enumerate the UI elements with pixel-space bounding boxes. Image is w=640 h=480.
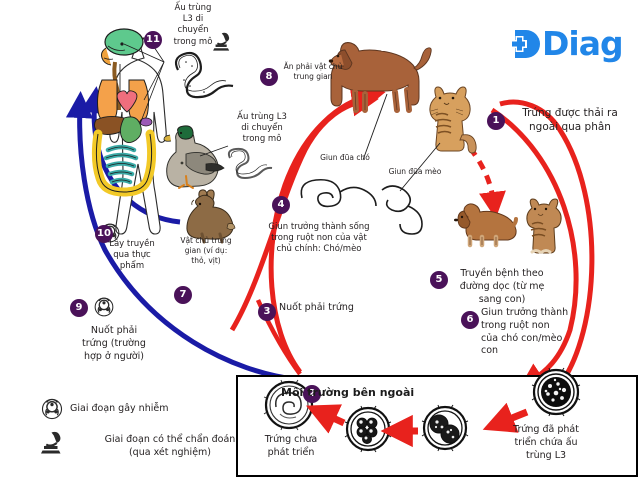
- step-label-5: Truyền bệnh theo đường dọc (từ mẹ sang c…: [452, 268, 552, 306]
- lifecycle-diagram: 2 Môi trường bên ngoài: [0, 0, 640, 480]
- step-label-4: Giun trưởng thành sống trong ruột non củ…: [258, 222, 380, 256]
- microscope-icon: [41, 432, 61, 454]
- biohazard-icon: [95, 298, 113, 316]
- step-label-10: Lây truyền qua thực phẩm: [98, 239, 166, 273]
- logo-d-with-cross: [512, 27, 542, 61]
- legend-label-infective: Giai đoạn gây nhiễm: [70, 403, 240, 416]
- step-label-1: Trứng được thải ra ngoài qua phân: [508, 106, 632, 134]
- step-badge-9: 9: [70, 299, 88, 317]
- step-badge-4: 4: [272, 196, 290, 214]
- egg-larvated-label: Trứng đã phát triển chứa ấu trùng L3: [499, 424, 593, 462]
- diag-logo: Diag: [512, 24, 623, 63]
- dog-roundworm-label: Giun đũa chó: [309, 153, 381, 163]
- medical-cross-icon: [512, 27, 542, 61]
- step-label-3: Nuốt phải trứng: [279, 302, 389, 315]
- step-badge-11: 11: [144, 31, 162, 49]
- biohazard-icon: [42, 399, 61, 418]
- step-badge-10: 10: [95, 225, 113, 243]
- step-badge-3: 3: [258, 303, 276, 321]
- step-badge-7: 7: [174, 286, 192, 304]
- step-badge-8: 8: [260, 68, 278, 86]
- logo-text: Diag: [542, 24, 623, 63]
- step-label-6: Giun trưởng thành trong ruột non của chó…: [481, 307, 585, 358]
- step-badge-5: 5: [430, 271, 448, 289]
- larva-l3-mid-label: Ấu trùng L3 di chuyển trong mô: [227, 112, 297, 146]
- step-badge-6: 6: [461, 311, 479, 329]
- step-label-8: Ăn phải vật chủ trung gian: [272, 62, 354, 82]
- egg-undeveloped-label: Trứng chưa phát triển: [248, 434, 334, 460]
- legend-label-diagnostic: Giai đoạn có thể chẩn đoán (qua xét nghi…: [70, 434, 270, 460]
- step-label-7: Vật chủ trung gian (ví dụ: thỏ, vịt): [172, 236, 240, 265]
- step-label-11: Ấu trùng L3 di chuyển trong mô: [156, 3, 230, 48]
- environment-box-title: Môi trường bên ngoài: [281, 386, 414, 399]
- cat-roundworm-label: Giun đũa mèo: [382, 167, 448, 177]
- step-label-9: Nuốt phải trứng (trường hợp ở người): [60, 325, 168, 363]
- step-badge-1: 1: [487, 112, 505, 130]
